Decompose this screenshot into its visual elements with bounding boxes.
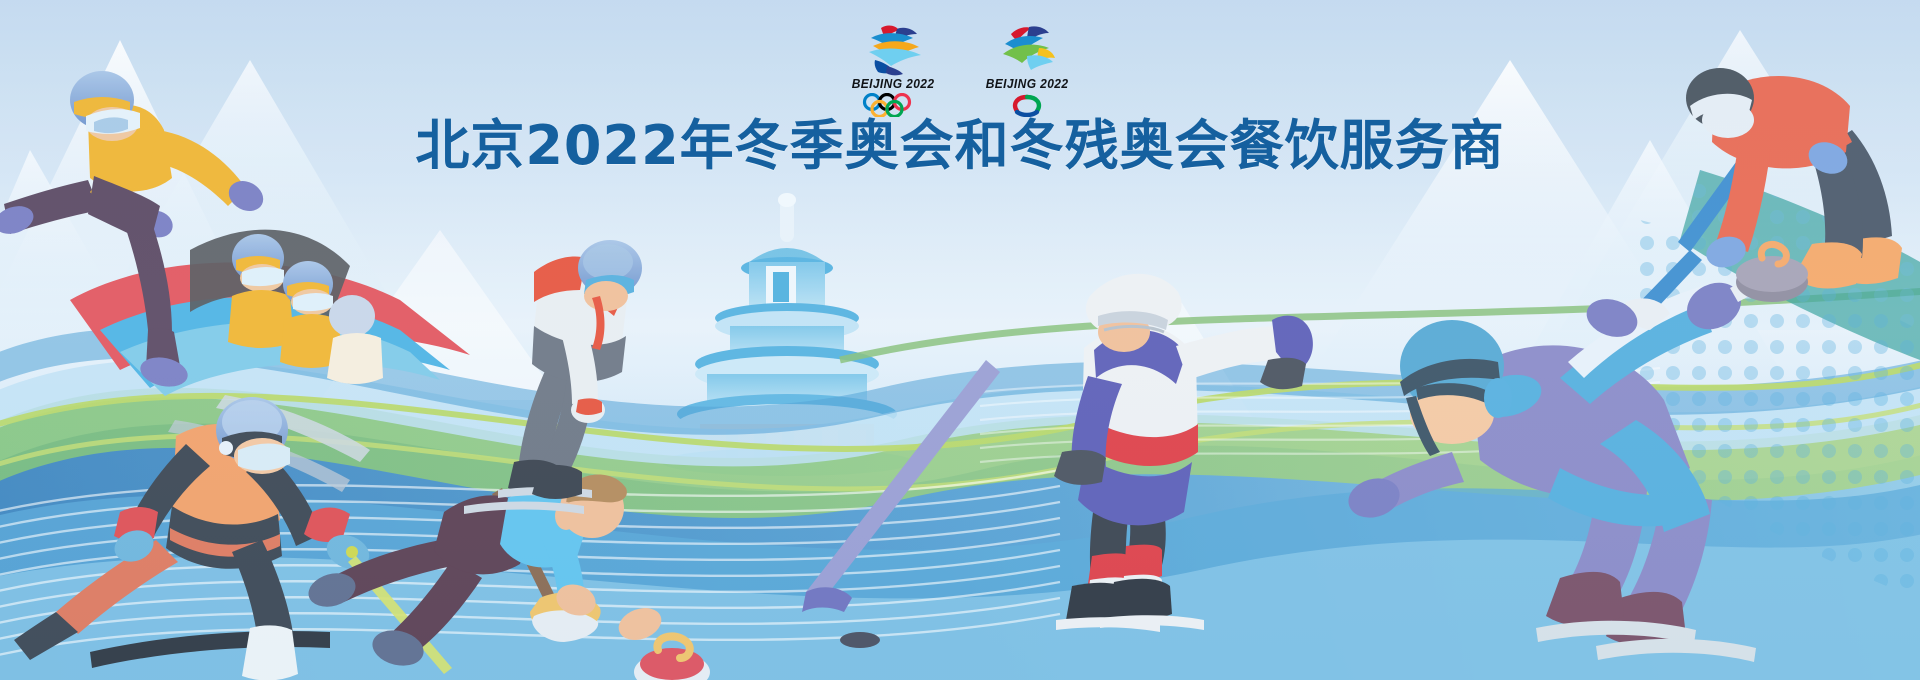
paralympic-emblem-mark [981,22,1073,76]
beijing-2022-banner: BEIJING 2022 BEIJING 2022 [0,0,1920,680]
page-title: 北京2022年冬季奥会和冬残奥会餐饮服务商 [415,116,1504,176]
olympic-wordmark: BEIJING 2022 [852,77,935,91]
beijing-2022-paralympic-emblem: BEIJING 2022 [981,22,1073,117]
paralympic-wordmark: BEIJING 2022 [986,77,1069,91]
olympic-emblem-mark [847,22,939,76]
emblem-row: BEIJING 2022 BEIJING 2022 [0,22,1920,117]
beijing-2022-olympic-emblem: BEIJING 2022 [847,22,939,117]
title-block: 北京2022年冬季奥会和冬残奥会餐饮服务商 [0,116,1920,176]
